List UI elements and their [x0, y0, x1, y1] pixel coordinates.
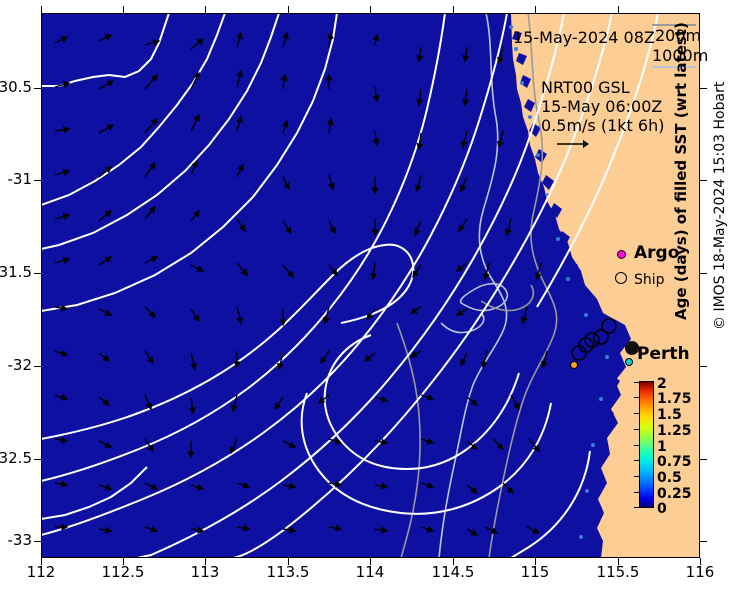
colorbar-tick-label: 0.5 [657, 470, 682, 486]
y-tick [34, 541, 41, 542]
y-tick [34, 180, 41, 181]
current-scale-arrow-icon [557, 139, 589, 149]
y-axis-label-text: -31.5 [0, 263, 32, 281]
x-axis-label: 116 [686, 563, 715, 581]
x-axis-label: 112 [27, 563, 56, 581]
colorbar-tick [634, 382, 639, 383]
x-axis-label: 114 [356, 563, 385, 581]
x-tick-top [123, 6, 124, 13]
y-tick-right [700, 459, 707, 460]
x-axis-label: 113 [191, 563, 220, 581]
y-tick [34, 366, 41, 367]
y-tick-right [700, 541, 707, 542]
colorbar-tick-label: 2 [657, 376, 667, 392]
colorbar [639, 381, 654, 508]
colorbar-tick [634, 445, 639, 446]
colorbar-tick-label: 0.75 [657, 454, 692, 470]
map-figure: 112 112.5 113 113.5 114 114.5 115 115.5 … [0, 0, 740, 592]
x-tick-top [370, 6, 371, 13]
perth-city-label: Perth [637, 344, 690, 364]
y-tick [34, 459, 41, 460]
colorbar-tick [634, 492, 639, 493]
colorbar-axis-title: Age (days) of filled SST (wrt latest) [672, 60, 690, 320]
x-tick-top [288, 6, 289, 13]
y-tick-right [700, 88, 707, 89]
date-stamp: 15-May-2024 08Z [513, 28, 655, 47]
y-tick-right [700, 273, 707, 274]
ship-legend-label: Ship [634, 272, 665, 288]
x-axis-label: 115 [521, 563, 550, 581]
colorbar-tick-label: 0 [657, 501, 667, 517]
y-tick [34, 88, 41, 89]
y-tick [34, 273, 41, 274]
colorbar-tick-label: 1.5 [657, 407, 682, 423]
ship-legend-marker-icon [615, 272, 627, 284]
y-axis-label-text: -32.5 [0, 449, 32, 467]
colorbar-tick [634, 507, 639, 508]
colorbar-tick [634, 476, 639, 477]
colorbar-tick [634, 429, 639, 430]
colorbar-tick-label: 1.25 [657, 423, 692, 439]
x-tick-top [205, 6, 206, 13]
x-axis-label: 112.5 [102, 563, 145, 581]
current-scale-label: 0.5m/s (1kt 6h) [541, 116, 664, 135]
x-axis-label: 115.5 [597, 563, 640, 581]
x-axis-label: 114.5 [432, 563, 475, 581]
x-axis-label: 113.5 [267, 563, 310, 581]
x-tick-top [535, 6, 536, 13]
colorbar-tick [634, 413, 639, 414]
colorbar-tick-label: 1.75 [657, 391, 692, 407]
current-source-label: NRT00 GSL [541, 78, 630, 97]
y-axis-label-text: -31 [8, 170, 33, 188]
colorbar-tick [634, 460, 639, 461]
colorbar-tick-label: 0.25 [657, 486, 692, 502]
colorbar-tick-label: 1 [657, 439, 667, 455]
argo-legend-marker-icon [617, 250, 626, 259]
x-tick-top [618, 6, 619, 13]
y-axis-label-text: -30.5 [0, 78, 32, 96]
y-axis-label-text: -32 [8, 356, 33, 374]
x-tick-top [453, 6, 454, 13]
y-tick-right [700, 180, 707, 181]
y-axis-label-text: -33 [8, 531, 33, 549]
y-tick-right [700, 366, 707, 367]
colorbar-tick [634, 397, 639, 398]
current-time-label: 15-May 06:00Z [541, 97, 662, 116]
x-tick-top [41, 6, 42, 13]
copyright-credit: © IMOS 18-May-2024 15:03 Hobart [712, 70, 728, 330]
